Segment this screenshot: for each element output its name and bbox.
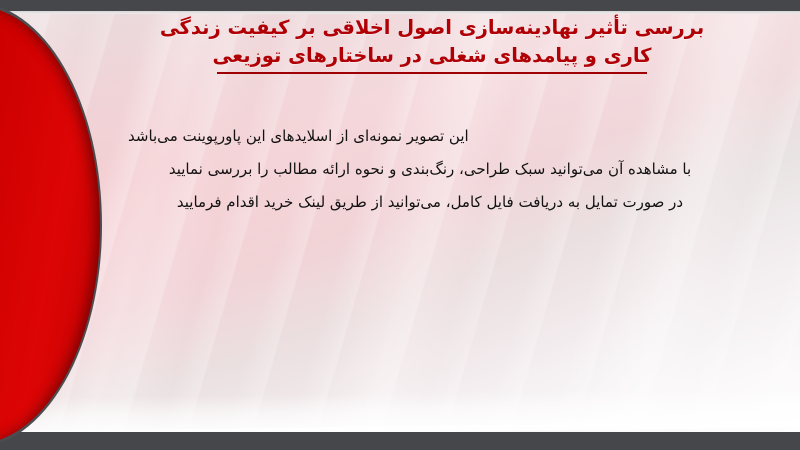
title-underline-rule (217, 72, 647, 74)
slide-top-frame (0, 0, 800, 11)
body-line-2: با مشاهده آن می‌توانید سبک طراحی، رنگ‌بن… (120, 153, 740, 186)
slide-body-text: این تصویر نمونه‌ای از اسلایدهای این پاور… (120, 120, 740, 219)
body-line-1: این تصویر نمونه‌ای از اسلایدهای این پاور… (120, 120, 740, 153)
title-line-1: بررسی تأثیر نهادینه‌سازی اصول اخلاقی بر … (122, 14, 742, 42)
slide-title: بررسی تأثیر نهادینه‌سازی اصول اخلاقی بر … (122, 14, 742, 74)
presentation-slide: بررسی تأثیر نهادینه‌سازی اصول اخلاقی بر … (0, 0, 800, 450)
slide-bottom-frame (0, 432, 800, 450)
body-line-3: در صورت تمایل به دریافت فایل کامل، می‌تو… (120, 186, 740, 219)
title-line-2: کاری و پیامدهای شغلی در ساختارهای توزیعی (122, 42, 742, 70)
